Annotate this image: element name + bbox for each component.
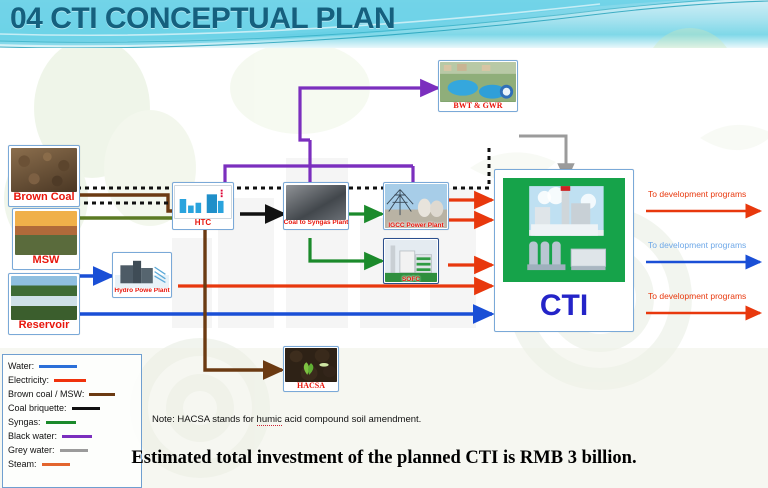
syngas-plant-photo <box>286 185 346 220</box>
legend-swatch-coal-briquette <box>72 407 100 410</box>
cti-plant-photo <box>503 178 625 282</box>
node-igcc-power-plant[interactable]: IGCC Power Plant <box>383 182 449 230</box>
node-htc[interactable]: HTC <box>172 182 234 230</box>
legend-swatch-water <box>39 365 77 368</box>
footer-statement: Estimated total investment of the planne… <box>0 448 768 469</box>
node-hacsa[interactable]: HACSA <box>283 346 339 392</box>
node-igcc-power-plant-label: IGCC Power Plant <box>384 222 448 229</box>
note-underlined-word: humic <box>257 414 282 426</box>
legend-item-brown-coal-msw: Brown coal / MSW: <box>8 387 136 401</box>
node-hydro-power-plant[interactable]: Hydro Powe Plant <box>112 252 172 298</box>
output-label-1: To development programs <box>648 189 746 199</box>
legend-item-electricity: Electricity: <box>8 373 136 387</box>
node-bwt-gwr-label: BWT & GWR <box>453 102 502 110</box>
output-label-2: To development programs <box>648 240 746 250</box>
node-brown-coal-label: Brown Coal <box>13 192 74 204</box>
node-hacsa-label: HACSA <box>297 382 325 390</box>
node-hydro-power-plant-label: Hydro Powe Plant <box>114 288 169 295</box>
seedling-soil-photo <box>285 348 337 382</box>
node-sofc-label: SOFC <box>384 276 438 283</box>
legend-label-coal-briquette: Coal briquette: <box>8 403 67 413</box>
legend-label-electricity: Electricity: <box>8 375 49 385</box>
note-suffix: acid compound soil amendment. <box>282 414 421 425</box>
legend-item-coal-briquette: Coal briquette: <box>8 401 136 415</box>
legend-item-black-water: Black water: <box>8 429 136 443</box>
flow-htc-blackwater <box>225 166 413 182</box>
legend-swatch-black-water <box>62 435 92 438</box>
diagram-canvas: Brown Coal MSW Reservoir <box>0 48 768 488</box>
flow-blackwater-to-bwt <box>300 88 438 140</box>
legend-swatch-electricity <box>54 379 86 382</box>
node-reservoir[interactable]: Reservoir <box>8 273 80 335</box>
output-label-3: To development programs <box>648 291 746 301</box>
legend-label-water: Water: <box>8 361 34 371</box>
node-reservoir-label: Reservoir <box>19 320 70 332</box>
water-treatment-photo <box>440 62 516 102</box>
node-coal-to-syngas-plant[interactable]: Coal to Syngas Plant <box>283 182 349 230</box>
brown-coal-photo <box>11 148 77 192</box>
node-bwt-gwr[interactable]: BWT & GWR <box>438 60 518 112</box>
page-title: 04 CTI CONCEPTUAL PLAN <box>10 2 395 36</box>
node-htc-label: HTC <box>195 219 211 227</box>
node-msw-label: MSW <box>33 255 60 267</box>
node-coal-to-syngas-plant-label: Coal to Syngas Plant <box>284 220 349 227</box>
legend-swatch-syngas <box>46 421 76 424</box>
node-cti-label: CTI <box>540 290 588 322</box>
htc-chart-photo <box>174 185 232 219</box>
legend-item-water: Water: <box>8 359 136 373</box>
slide-header: 04 CTI CONCEPTUAL PLAN <box>0 0 768 48</box>
note-text: Note: HACSA stands for humic acid compou… <box>152 414 421 425</box>
flow-htc-to-hacsa <box>205 230 282 370</box>
flow-syngas-to-sofc <box>310 238 382 261</box>
node-msw[interactable]: MSW <box>12 208 80 270</box>
node-cti[interactable]: CTI <box>494 169 634 332</box>
legend-label-brown-coal-msw: Brown coal / MSW: <box>8 389 84 399</box>
node-sofc[interactable]: SOFC <box>383 238 439 284</box>
hydro-plant-photo <box>115 255 169 288</box>
legend-label-syngas: Syngas: <box>8 417 41 427</box>
legend-item-syngas: Syngas: <box>8 415 136 429</box>
note-prefix: Note: HACSA stands for <box>152 414 257 425</box>
legend-swatch-brown-coal-msw <box>89 393 115 396</box>
reservoir-photo <box>11 276 77 320</box>
legend-label-black-water: Black water: <box>8 431 57 441</box>
slide-canvas: 04 CTI CONCEPTUAL PLAN <box>0 0 768 488</box>
node-brown-coal[interactable]: Brown Coal <box>8 145 80 207</box>
msw-photo <box>15 211 77 255</box>
